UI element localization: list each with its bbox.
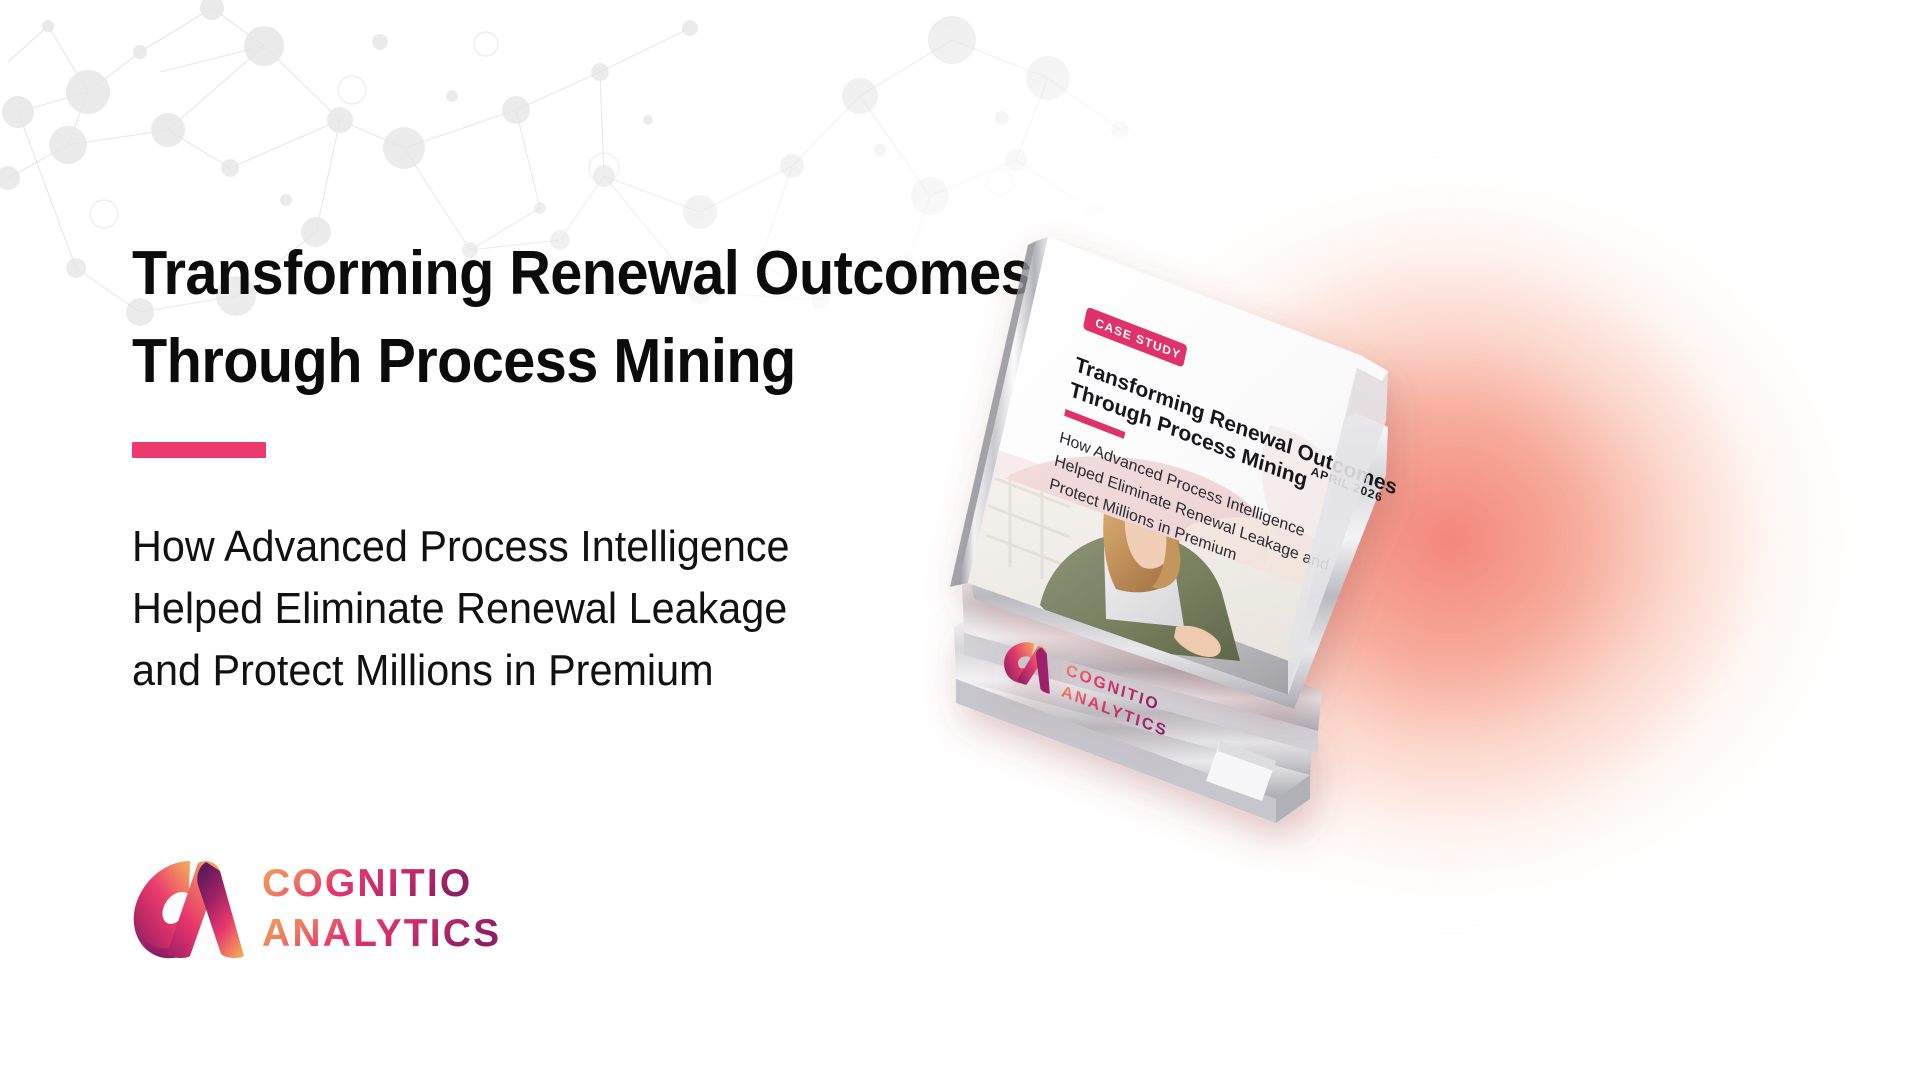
accent-divider-rule: [132, 442, 266, 458]
hero-banner: Transforming Renewal Outcomes Through Pr…: [0, 0, 1920, 1080]
brand-wordmark: COGNITIO ANALYTICS: [262, 860, 552, 958]
brand-name-line-1: COGNITIO: [262, 862, 472, 905]
ca-monogram-icon: [128, 855, 244, 963]
book-stack-mockup: CASE STUDY Transforming Renewal Outcomes…: [890, 175, 1530, 875]
brand-name-line-2: ANALYTICS: [262, 912, 501, 955]
brand-lockup: COGNITIO ANALYTICS: [128, 855, 552, 963]
